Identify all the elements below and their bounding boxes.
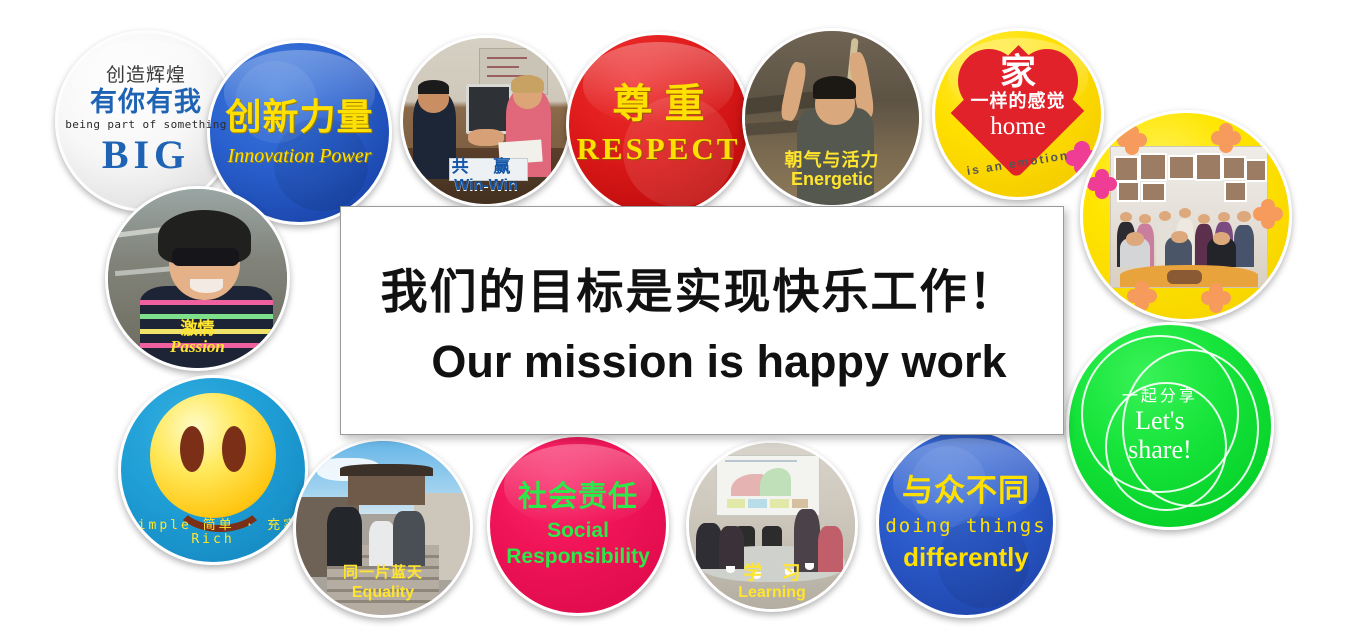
badge-energetic-english: Energetic [745, 170, 919, 189]
flower-icon [1201, 283, 1231, 313]
values-collage: 创造辉煌 有你有我 being part of something BIG 创新… [0, 0, 1366, 635]
badge-different-english1: doing things [885, 516, 1046, 537]
badge-share-chinese: 一起分享 [1097, 388, 1222, 405]
badge-passion-english: Passion [108, 338, 287, 356]
flower-icon [1087, 169, 1117, 199]
badge-big-line1: 创造辉煌 [106, 66, 186, 87]
flower-icon [1211, 123, 1241, 153]
badge-social-english1: Social [547, 520, 609, 543]
badge-winwin-chinese: 共 赢 [403, 158, 569, 176]
badge-different-english2: differently [903, 543, 1029, 571]
mission-banner: 我们的目标是实现快乐工作！ Our mission is happy work [340, 206, 1064, 435]
badge-equality-chinese: 同一片蓝天 [296, 565, 470, 581]
home-text-group: 家 一样的感觉 home [935, 54, 1101, 139]
badge-home-line3: home [935, 113, 1101, 140]
badge-big-line3: being part of something [65, 119, 227, 131]
badge-social-responsibility[interactable]: 社会责任 Social Responsibility [487, 434, 669, 616]
mission-chinese: 我们的目标是实现快乐工作！ [381, 253, 1018, 322]
flower-icon [1127, 281, 1157, 311]
badge-share-english2: share! [1097, 436, 1222, 464]
badge-innovation-chinese: 创新力量 [225, 98, 373, 137]
badge-lets-share[interactable]: 一起分享 Let's share! [1066, 322, 1274, 530]
badge-smiley-arc: Simple 简单 · 充实 Rich [121, 519, 305, 547]
flower-icon [1117, 125, 1147, 155]
badge-different-chinese: 与众不同 [902, 474, 1030, 507]
badge-simple-rich-smiley[interactable]: Simple 简单 · 充实 Rich [118, 375, 308, 565]
flower-icon [1253, 199, 1283, 229]
badge-family-group-photo[interactable] [1080, 110, 1292, 322]
badge-equality[interactable]: 同一片蓝天 Equality [293, 438, 473, 618]
badge-social-chinese: 社会责任 [518, 482, 638, 513]
badge-learning-english: Learning [689, 584, 855, 601]
badge-win-win[interactable]: 共 赢 Win-Win [400, 35, 572, 207]
badge-innovation-english: Innovation Power [228, 146, 372, 168]
badge-home-line2: 一样的感觉 [935, 92, 1101, 111]
badge-energetic-chinese: 朝气与活力 [745, 151, 919, 170]
badge-learning[interactable]: 学 习 Learning [686, 440, 858, 612]
badge-home-line1: 家 [935, 54, 1101, 90]
badge-learning-chinese: 学 习 [689, 564, 855, 585]
badge-respect[interactable]: 尊重 RESPECT [566, 32, 751, 217]
badge-home-is-an-emotion[interactable]: 家 一样的感觉 home is an emotion [932, 28, 1104, 200]
badge-passion-chinese: 激情 [108, 320, 287, 338]
badge-doing-things-differently[interactable]: 与众不同 doing things differently [876, 428, 1056, 618]
badge-equality-english: Equality [296, 584, 470, 601]
group-photo [1110, 146, 1269, 288]
badge-share-english1: Let's [1097, 407, 1222, 435]
mission-english: Our mission is happy work [431, 336, 1006, 388]
badge-respect-chinese: 尊重 [601, 83, 717, 126]
badge-energetic[interactable]: 朝气与活力 Energetic [742, 28, 922, 208]
badge-big-line4: BIG [102, 133, 190, 176]
share-text-group: 一起分享 Let's share! [1097, 388, 1222, 464]
badge-big-line2: 有你有我 [90, 88, 202, 117]
badge-being-part-of-something-big[interactable]: 创造辉煌 有你有我 being part of something BIG [55, 30, 237, 212]
badge-winwin-english: Win-Win [403, 177, 569, 194]
badge-social-english2: Responsibility [506, 546, 650, 569]
badge-passion[interactable]: 激情 Passion [105, 186, 290, 371]
badge-respect-english: RESPECT [577, 132, 741, 165]
